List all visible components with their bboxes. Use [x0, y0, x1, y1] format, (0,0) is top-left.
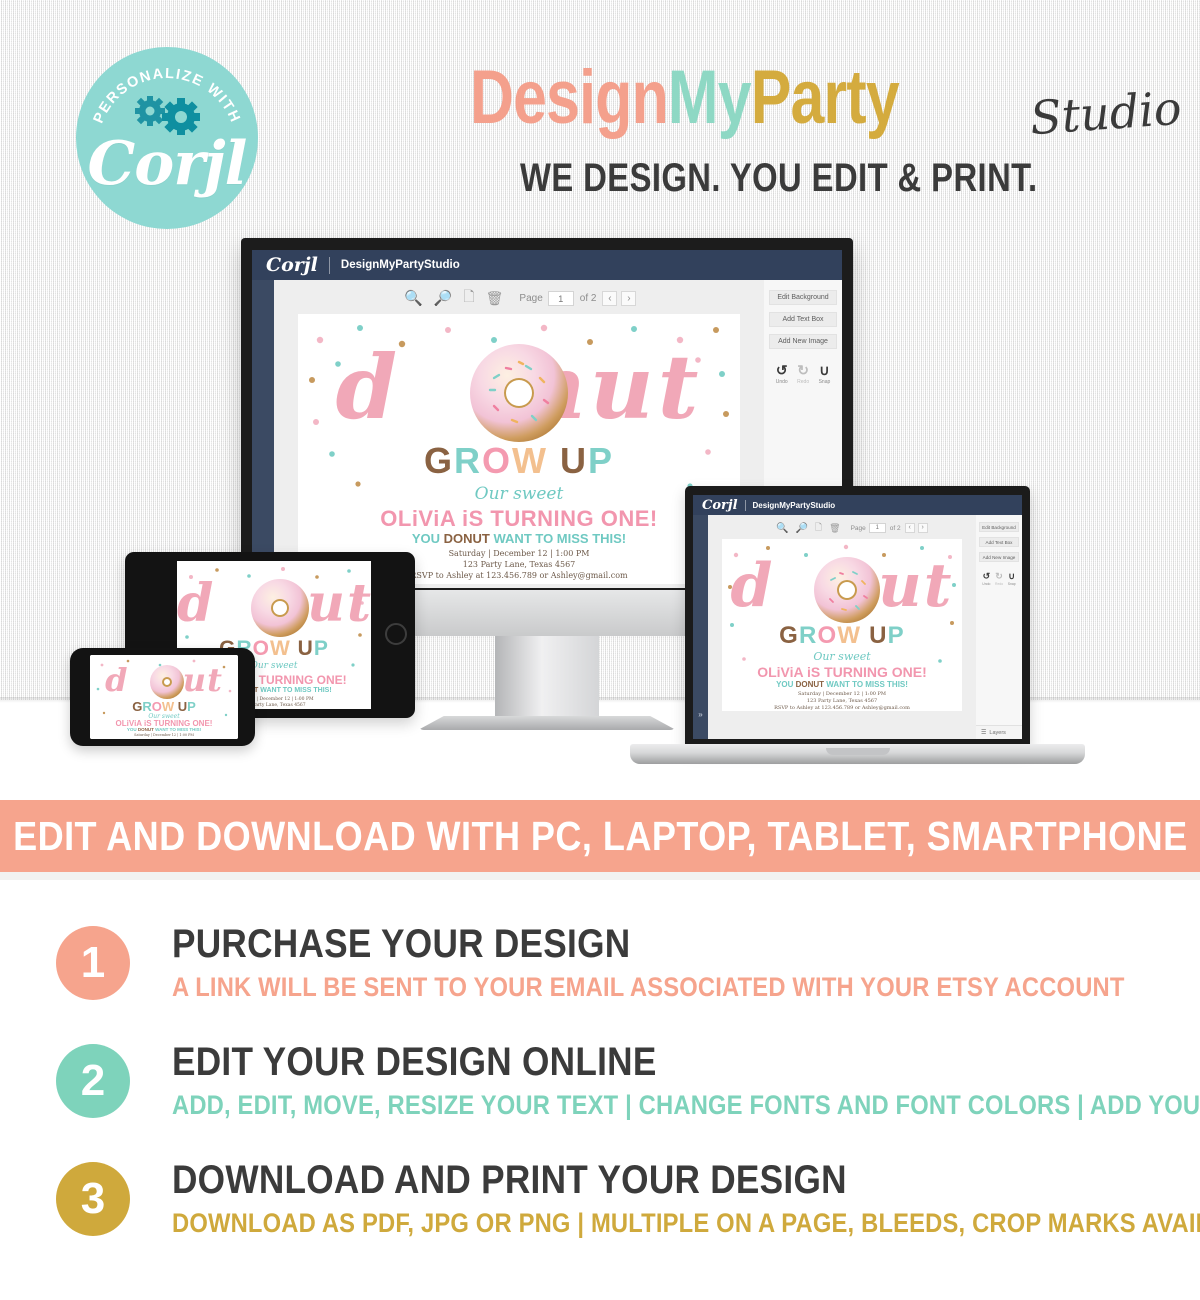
- edit-background-button[interactable]: Edit Background: [769, 290, 837, 305]
- step-1-text: PURCHASE YOUR DESIGN A LINK WILL BE SENT…: [172, 922, 1200, 1002]
- headline-d: d: [336, 335, 402, 439]
- tablet-miss-post: WANT TO MISS THIS!: [258, 687, 331, 694]
- step-3-text: DOWNLOAD AND PRINT YOUR DESIGN DOWNLOAD …: [172, 1158, 1200, 1238]
- add-new-image-button[interactable]: Add New Image: [769, 334, 837, 349]
- brand-header: DesignMyParty Studio WE DESIGN. YOU EDIT…: [470, 58, 1170, 208]
- next-page-button[interactable]: ›: [621, 291, 636, 306]
- brand-part-design: Design: [470, 55, 668, 140]
- laptop-page-label: Page: [851, 525, 866, 532]
- laptop-page-number-input[interactable]: 1: [869, 523, 886, 533]
- step-1: 1 PURCHASE YOUR DESIGN A LINK WILL BE SE…: [56, 922, 1156, 1032]
- laptop-right-panel: Edit Background Add Text Box Add New Ima…: [976, 515, 1022, 739]
- step-2-title: EDIT YOUR DESIGN ONLINE: [172, 1040, 1200, 1084]
- laptop-undo-button[interactable]: ↺ Undo: [982, 571, 990, 586]
- topbar-divider: [329, 257, 330, 274]
- laptop-redo-icon: ↻: [995, 571, 1003, 582]
- laptop-site-name-label: DesignMyPartyStudio: [753, 501, 836, 510]
- editor-topbar: Corjl DesignMyPartyStudio: [252, 250, 842, 280]
- page-total-label: of 2: [580, 293, 597, 304]
- step-3: 3 DOWNLOAD AND PRINT YOUR DESIGN DOWNLOA…: [56, 1158, 1156, 1268]
- editor-toolbar: 🔍 🔎 🗋 🗑 Page 1 of 2 ‹ ›: [404, 287, 664, 309]
- laptop-history-tools: ↺ Undo ↻ Redo ∪ Snap: [980, 571, 1018, 586]
- step-3-subtitle: DOWNLOAD AS PDF, JPG OR PNG | MULTIPLE O…: [172, 1208, 1200, 1238]
- laptop-undo-icon: ↺: [982, 571, 990, 582]
- laptop-snap-button[interactable]: ∪ Snap: [1008, 571, 1016, 586]
- layers-label: Layers: [989, 730, 1006, 736]
- undo-label: Undo: [776, 379, 788, 385]
- layers-panel-toggle[interactable]: ☰ Layers: [976, 725, 1022, 739]
- snap-icon: ∪: [819, 362, 831, 379]
- corjl-logo[interactable]: Corjl: [266, 254, 318, 276]
- laptop-lid: Corjl DesignMyPartyStudio » 🔍 🔎 🗋 🗑 Page…: [685, 486, 1030, 748]
- phone-screen: dnut GROW UP Our sweet OLiViA iS TURNING…: [90, 655, 238, 739]
- phone-miss-post: WANT TO MISS THIS!: [154, 727, 201, 732]
- tablet-donut-graphic: [251, 579, 309, 637]
- laptop-trash-icon[interactable]: 🗑: [829, 523, 840, 534]
- step-3-number-badge: 3: [56, 1162, 130, 1236]
- monitor-stand-neck: [495, 636, 599, 724]
- phone-miss: YOU DONUT WANT TO MISS THIS!: [90, 727, 238, 732]
- laptop-editor-topbar: Corjl DesignMyPartyStudio: [693, 495, 1022, 515]
- zoom-in-icon[interactable]: 🔎: [434, 289, 453, 307]
- laptop-our-sweet: Our sweet: [722, 650, 962, 663]
- editor-left-rail[interactable]: »: [252, 280, 274, 588]
- step-2-subtitle: ADD, EDIT, MOVE, RESIZE YOUR TEXT | CHAN…: [172, 1090, 1200, 1120]
- laptop-mockup: Corjl DesignMyPartyStudio » 🔍 🔎 🗋 🗑 Page…: [630, 486, 1085, 781]
- laptop-undo-label: Undo: [982, 582, 990, 586]
- laptop-duplicate-icon[interactable]: 🗋: [815, 520, 822, 536]
- brand-script-studio: Studio: [1028, 81, 1183, 145]
- laptop-rail-expand-icon[interactable]: »: [693, 710, 708, 719]
- tablet-donut-hole: [271, 599, 289, 617]
- brand-part-party: Party: [751, 55, 899, 140]
- donut-graphic: [470, 344, 568, 442]
- phone-donut-graphic: [150, 665, 184, 699]
- laptop-invitation-canvas[interactable]: dnut: [722, 539, 962, 711]
- laptop-redo-label: Redo: [995, 582, 1003, 586]
- devices-banner: EDIT AND DOWNLOAD WITH PC, LAPTOP, TABLE…: [0, 800, 1200, 872]
- laptop-zoom-in-icon[interactable]: 🔎: [795, 523, 807, 534]
- laptop-trackpad-notch: [826, 748, 890, 755]
- phone-detail-1: Saturday | December 12 | 1:00 PM: [90, 733, 238, 737]
- laptop-donut-hole: [837, 580, 857, 600]
- laptop-detail-2: 123 Party Lane, Texas 4567: [722, 698, 962, 704]
- trash-icon[interactable]: 🗑: [486, 290, 504, 307]
- smartphone-mockup: dnut GROW UP Our sweet OLiViA iS TURNING…: [70, 648, 255, 746]
- laptop-left-rail[interactable]: »: [693, 515, 708, 739]
- miss-post: WANT TO MISS THIS!: [490, 531, 626, 546]
- laptop-miss: YOU DONUT WANT TO MISS THIS!: [722, 680, 962, 689]
- tablet-home-button[interactable]: [385, 623, 407, 645]
- laptop-corjl-logo[interactable]: Corjl: [702, 498, 738, 513]
- undo-button[interactable]: ↺ Undo: [776, 362, 788, 385]
- brand-part-my: My: [668, 55, 751, 140]
- tablet-headline-d: d: [177, 573, 215, 634]
- laptop-canvas-area: 🔍 🔎 🗋 🗑 Page 1 of 2 ‹ ›: [708, 515, 976, 739]
- laptop-snap-label: Snap: [1008, 582, 1016, 586]
- badge-wordmark: Corjl: [76, 133, 258, 195]
- brand-wordmark: DesignMyParty: [470, 58, 1030, 138]
- laptop-zoom-out-icon[interactable]: 🔍: [776, 523, 788, 534]
- laptop-topbar-divider: [745, 500, 746, 511]
- step-2: 2 EDIT YOUR DESIGN ONLINE ADD, EDIT, MOV…: [56, 1040, 1156, 1150]
- step-1-number-badge: 1: [56, 926, 130, 1000]
- layers-icon: ☰: [981, 729, 986, 736]
- add-text-box-button[interactable]: Add Text Box: [769, 312, 837, 327]
- step-3-title: DOWNLOAD AND PRINT YOUR DESIGN: [172, 1158, 1200, 1202]
- laptop-detail-3: RSVP to Ashley at 123.456.789 or Ashley@…: [722, 705, 962, 711]
- snap-label: Snap: [819, 379, 831, 385]
- laptop-redo-button[interactable]: ↻ Redo: [995, 571, 1003, 586]
- snap-button[interactable]: ∪ Snap: [819, 362, 831, 385]
- step-2-text: EDIT YOUR DESIGN ONLINE ADD, EDIT, MOVE,…: [172, 1040, 1200, 1120]
- phone-body: dnut GROW UP Our sweet OLiViA iS TURNING…: [70, 648, 255, 746]
- site-name-label: DesignMyPartyStudio: [341, 259, 460, 271]
- prev-page-button[interactable]: ‹: [602, 291, 617, 306]
- laptop-prev-page-button[interactable]: ‹: [905, 523, 915, 533]
- zoom-out-icon[interactable]: 🔍: [404, 289, 423, 307]
- phone-headline-d: d: [105, 661, 128, 699]
- miss-pre: YOU: [412, 531, 444, 546]
- laptop-miss-pre: YOU: [776, 680, 796, 689]
- laptop-grow-up-text: GROW UP: [722, 623, 962, 649]
- laptop-snap-icon: ∪: [1008, 571, 1016, 582]
- brand-tagline: WE DESIGN. YOU EDIT & PRINT.: [520, 156, 1038, 201]
- editor-history-tools: ↺ Undo ↻ Redo ∪ Snap: [771, 362, 835, 385]
- laptop-next-page-button[interactable]: ›: [918, 523, 928, 533]
- miss-bold: DONUT: [444, 531, 490, 546]
- donut-hole: [504, 378, 534, 408]
- phone-invitation: dnut GROW UP Our sweet OLiViA iS TURNING…: [90, 655, 238, 739]
- personalize-with-corjl-badge: PERSONALIZE WITH Corjl: [76, 47, 258, 229]
- laptop-miss-post: WANT TO MISS THIS!: [824, 680, 908, 689]
- laptop-edit-background-button[interactable]: Edit Background: [979, 522, 1019, 532]
- laptop-add-new-image-button[interactable]: Add New Image: [979, 552, 1019, 562]
- laptop-headline-d: d: [731, 551, 775, 621]
- redo-label: Redo: [797, 379, 809, 385]
- laptop-add-text-box-button[interactable]: Add Text Box: [979, 537, 1019, 547]
- laptop-donut-graphic: [814, 557, 880, 623]
- grow-up-text: GROW UP: [298, 442, 740, 480]
- laptop-page-total-label: of 2: [890, 525, 901, 532]
- laptop-detail-1: Saturday | December 12 | 1:00 PM: [722, 691, 962, 697]
- step-1-subtitle: A LINK WILL BE SENT TO YOUR EMAIL ASSOCI…: [172, 972, 1125, 1002]
- laptop-turning: OLiViA iS TURNING ONE!: [722, 664, 962, 680]
- phone-miss-bold: DONUT: [138, 727, 154, 732]
- duplicate-icon[interactable]: 🗋: [463, 286, 474, 310]
- step-1-title: PURCHASE YOUR DESIGN: [172, 922, 1125, 966]
- redo-icon: ↻: [797, 362, 809, 379]
- laptop-screen: Corjl DesignMyPartyStudio » 🔍 🔎 🗋 🗑 Page…: [693, 495, 1022, 739]
- redo-button[interactable]: ↻ Redo: [797, 362, 809, 385]
- step-2-number-badge: 2: [56, 1044, 130, 1118]
- phone-miss-pre: YOU: [127, 727, 138, 732]
- laptop-editor-toolbar: 🔍 🔎 🗋 🗑 Page 1 of 2 ‹ ›: [776, 520, 961, 536]
- page-number-input[interactable]: 1: [548, 291, 574, 306]
- page-label: Page: [519, 293, 542, 304]
- undo-icon: ↺: [776, 362, 788, 379]
- devices-banner-text: EDIT AND DOWNLOAD WITH PC, LAPTOP, TABLE…: [13, 813, 1188, 860]
- phone-donut-hole: [162, 677, 172, 687]
- laptop-miss-bold: DONUT: [796, 680, 824, 689]
- phone-grow-up-text: GROW UP: [90, 699, 238, 714]
- steps-section: 1 PURCHASE YOUR DESIGN A LINK WILL BE SE…: [0, 880, 1200, 1300]
